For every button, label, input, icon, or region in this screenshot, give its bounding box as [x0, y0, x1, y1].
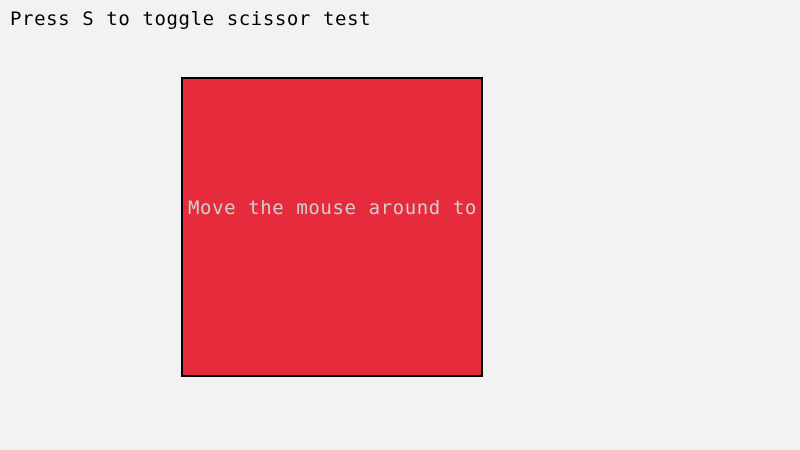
clipped-message-label: Move the mouse around to reveal this tex… [188, 197, 483, 219]
scissor-rectangle[interactable]: Move the mouse around to reveal this tex… [181, 77, 483, 377]
instruction-label: Press S to toggle scissor test [10, 8, 371, 30]
scissor-test-window: Press S to toggle scissor test Move the … [0, 0, 800, 450]
